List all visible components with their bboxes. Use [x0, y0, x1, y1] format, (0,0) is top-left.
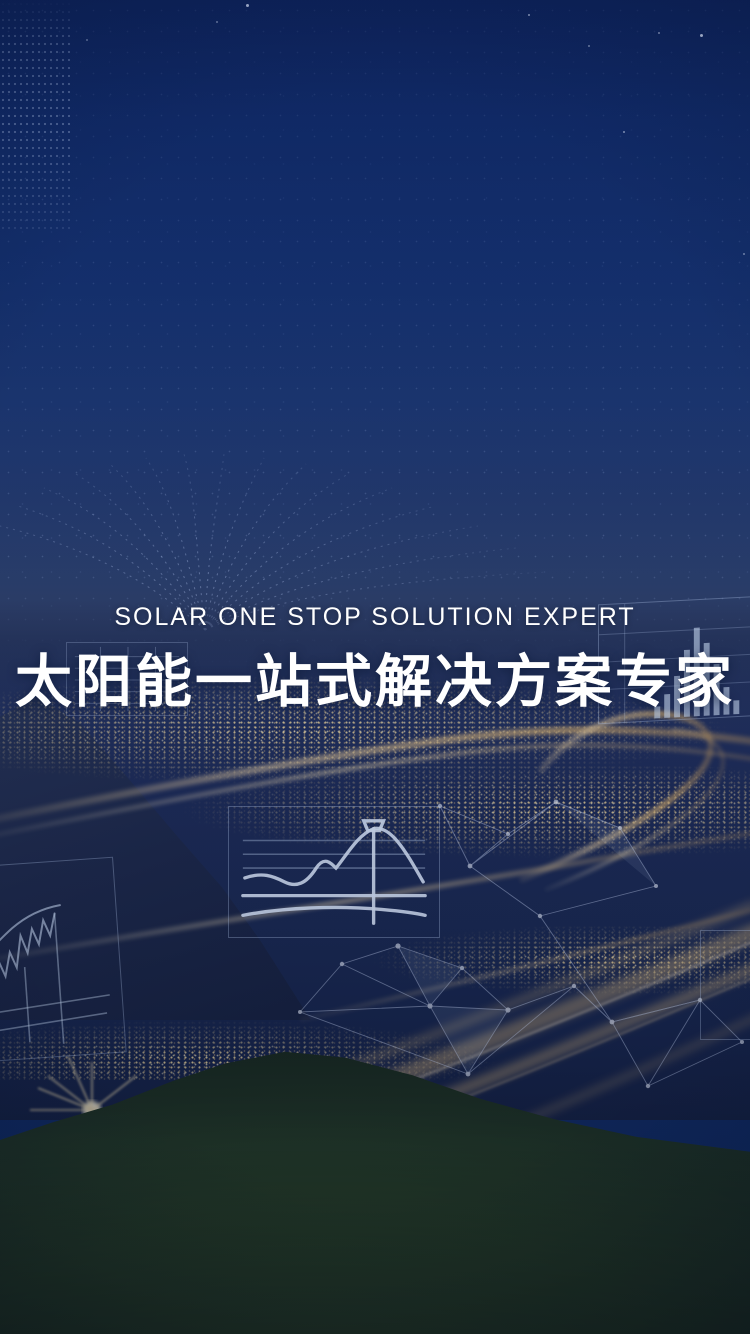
banner-title: 太阳能一站式解决方案专家	[0, 644, 750, 720]
candlestick-chart-panel	[0, 857, 127, 1064]
star-dot	[86, 39, 88, 41]
star-dot	[216, 21, 218, 23]
star-dot	[588, 45, 590, 47]
banner-subtitle: SOLAR ONE STOP SOLUTION EXPERT	[0, 596, 750, 638]
star-dot	[623, 131, 625, 133]
star-dot	[246, 4, 249, 7]
forested-hill	[0, 1040, 750, 1334]
star-dot	[743, 253, 745, 255]
star-dot	[528, 14, 530, 16]
wave-chart-panel	[228, 806, 440, 938]
star-dot	[700, 34, 703, 37]
hill-shading	[0, 1040, 750, 1334]
promo-banner: SOLAR ONE STOP SOLUTION EXPERT 太阳能一站式解决方…	[0, 0, 750, 1334]
edge-frame-panel	[700, 930, 750, 1040]
star-dot	[658, 32, 660, 34]
digital-tower-structure	[0, 0, 74, 230]
banner-text-block: SOLAR ONE STOP SOLUTION EXPERT 太阳能一站式解决方…	[0, 596, 750, 720]
